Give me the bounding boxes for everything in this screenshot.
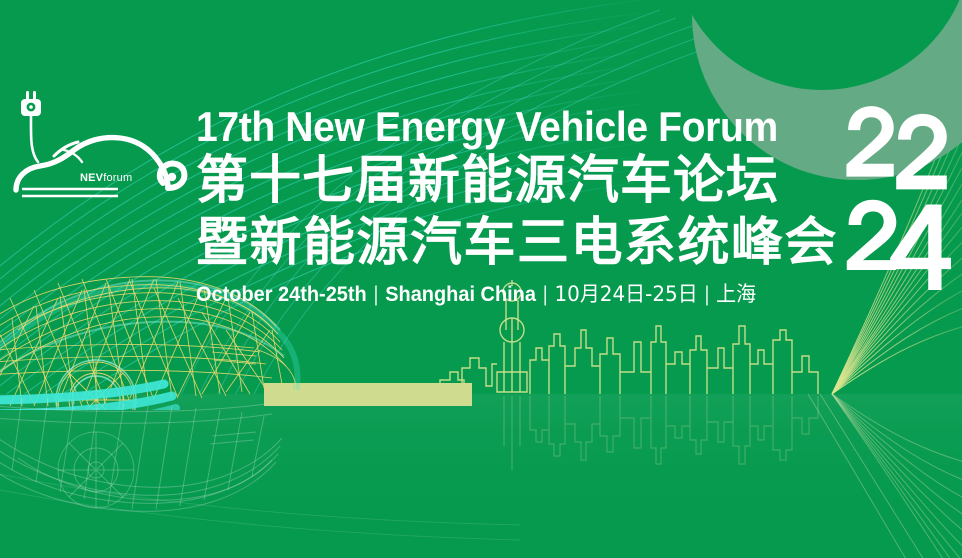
meta-separator-1: | [367, 283, 385, 306]
accent-bar-reflection [264, 394, 472, 406]
logo-brand-bold: NEV [80, 172, 103, 184]
event-banner: NEVforum 17th New Energy Vehicle Forum 第… [0, 0, 962, 558]
page-title-en: 17th New Energy Vehicle Forum [196, 104, 801, 150]
logo-wordmark: NEVforum [80, 172, 132, 184]
nevforum-logo[interactable]: NEVforum [8, 78, 198, 218]
page-title-cn-line2: 暨新能源汽车三电系统峰会 [196, 212, 846, 274]
page-title-cn-line1: 第十七届新能源汽车论坛 [196, 150, 846, 212]
headline-block: 17th New Energy Vehicle Forum 第十七届新能源汽车论… [196, 104, 846, 307]
car-outline-icon [8, 78, 198, 218]
meta-date-en: October 24th-25th [196, 283, 367, 306]
event-meta: October 24th-25th|Shanghai China|10月24日-… [196, 282, 814, 307]
meta-date-cn: 10月24日-25日 [554, 282, 697, 306]
meta-location-en: Shanghai China [385, 283, 536, 306]
meta-separator-3: | [698, 283, 716, 306]
meta-location-cn: 上海 [716, 282, 756, 306]
logo-brand-light: forum [103, 172, 132, 184]
year-2024-graphic [845, 104, 960, 304]
water-reflection-decor [0, 394, 962, 558]
charging-plug-icon [21, 91, 41, 116]
meta-separator-2: | [536, 283, 554, 306]
